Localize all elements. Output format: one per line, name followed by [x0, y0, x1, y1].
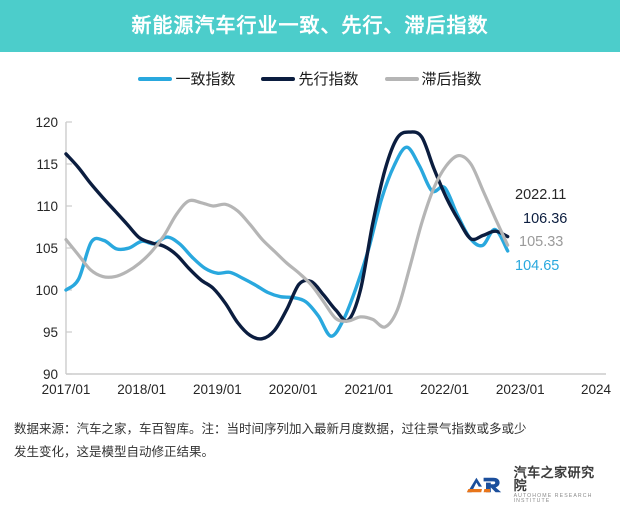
y-tick-label: 90 — [43, 367, 58, 382]
y-tick-label: 105 — [35, 241, 58, 256]
y-tick-label: 120 — [35, 115, 58, 130]
annotation-date: 2022.11 — [515, 188, 615, 203]
annotation-coincident-value: 104.65 — [515, 259, 615, 274]
legend-label-leading: 先行指数 — [298, 72, 358, 87]
y-tick-label: 100 — [35, 283, 58, 298]
legend-label-coincident: 一致指数 — [175, 72, 235, 87]
y-tick-label: 110 — [36, 199, 58, 214]
logo-en-name: AUTOHOME RESEARCH INSTITUTE — [514, 494, 608, 504]
y-tick-label: 115 — [36, 157, 58, 172]
x-tick-label: 2023/01 — [496, 382, 545, 397]
chart-title-bar: 新能源汽车行业一致、先行、滞后指数 — [0, 0, 620, 52]
footer-note: 数据来源：汽车之家，车百智库。注：当时间序列加入最新月度数据，过往景气指数或多或… — [14, 418, 574, 464]
x-tick-label: 2022/01 — [420, 382, 469, 397]
brand-logo: 汽车之家研究院 AUTOHOME RESEARCH INSTITUTE — [466, 472, 608, 498]
legend-item-coincident[interactable]: 一致指数 — [138, 72, 235, 87]
x-tick-label: 2024 — [581, 382, 612, 397]
series-line-leading — [66, 132, 508, 339]
y-axis-tick-labels: 9095100105110115120 — [35, 115, 58, 382]
annotation-block: 2022.11 106.36 105.33 104.65 — [515, 188, 615, 273]
annotation-leading-value: 106.36 — [523, 212, 615, 227]
series-line-lagging — [66, 156, 508, 328]
footer-note-line2: 发生变化，这是模型自动修正结果。 — [14, 441, 574, 464]
page-title: 新能源汽车行业一致、先行、滞后指数 — [132, 16, 489, 36]
x-tick-label: 2017/01 — [42, 382, 91, 397]
x-tick-label: 2018/01 — [117, 382, 166, 397]
legend-item-lagging[interactable]: 滞后指数 — [385, 72, 482, 87]
x-tick-label: 2020/01 — [269, 382, 318, 397]
x-tick-label: 2021/01 — [344, 382, 393, 397]
annotation-lagging-value: 105.33 — [519, 235, 615, 250]
x-axis-tick-labels: 2017/012018/012019/012020/012021/012022/… — [42, 382, 612, 397]
ar-monogram-icon — [466, 473, 508, 497]
footer-note-line1: 数据来源：汽车之家，车百智库。注：当时间序列加入最新月度数据，过往景气指数或多或… — [14, 418, 574, 441]
legend-swatch-coincident — [138, 77, 172, 81]
x-tick-label: 2019/01 — [193, 382, 242, 397]
legend-label-lagging: 滞后指数 — [422, 72, 482, 87]
legend-swatch-lagging — [385, 77, 419, 81]
legend-swatch-leading — [261, 77, 295, 81]
legend-item-leading[interactable]: 先行指数 — [261, 72, 358, 87]
chart-legend: 一致指数 先行指数 滞后指数 — [0, 62, 620, 96]
logo-text-group: 汽车之家研究院 AUTOHOME RESEARCH INSTITUTE — [514, 466, 608, 504]
y-tick-label: 95 — [43, 325, 58, 340]
logo-cn-name: 汽车之家研究院 — [514, 466, 608, 492]
data-series-group — [66, 132, 522, 339]
